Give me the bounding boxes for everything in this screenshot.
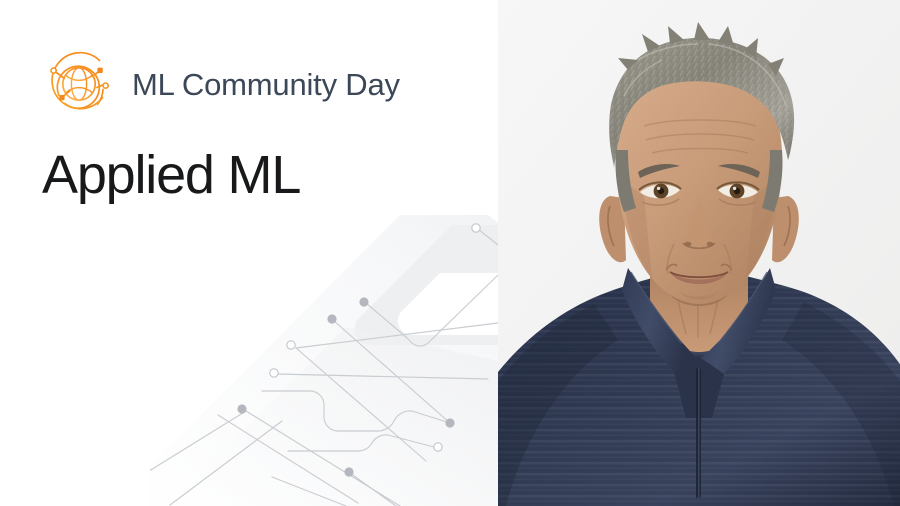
brand-title: ML Community Day — [132, 69, 400, 100]
circuit-traces-decoration — [150, 215, 498, 506]
presentation-slide: ML Community Day Applied ML — [0, 0, 900, 506]
speaker-headshot-photo — [498, 0, 900, 506]
slide-left-panel: ML Community Day Applied ML — [0, 0, 498, 506]
session-title: Applied ML — [42, 146, 300, 205]
globe-orbit-network-icon — [40, 45, 118, 123]
brand-lockup: ML Community Day — [40, 44, 400, 124]
